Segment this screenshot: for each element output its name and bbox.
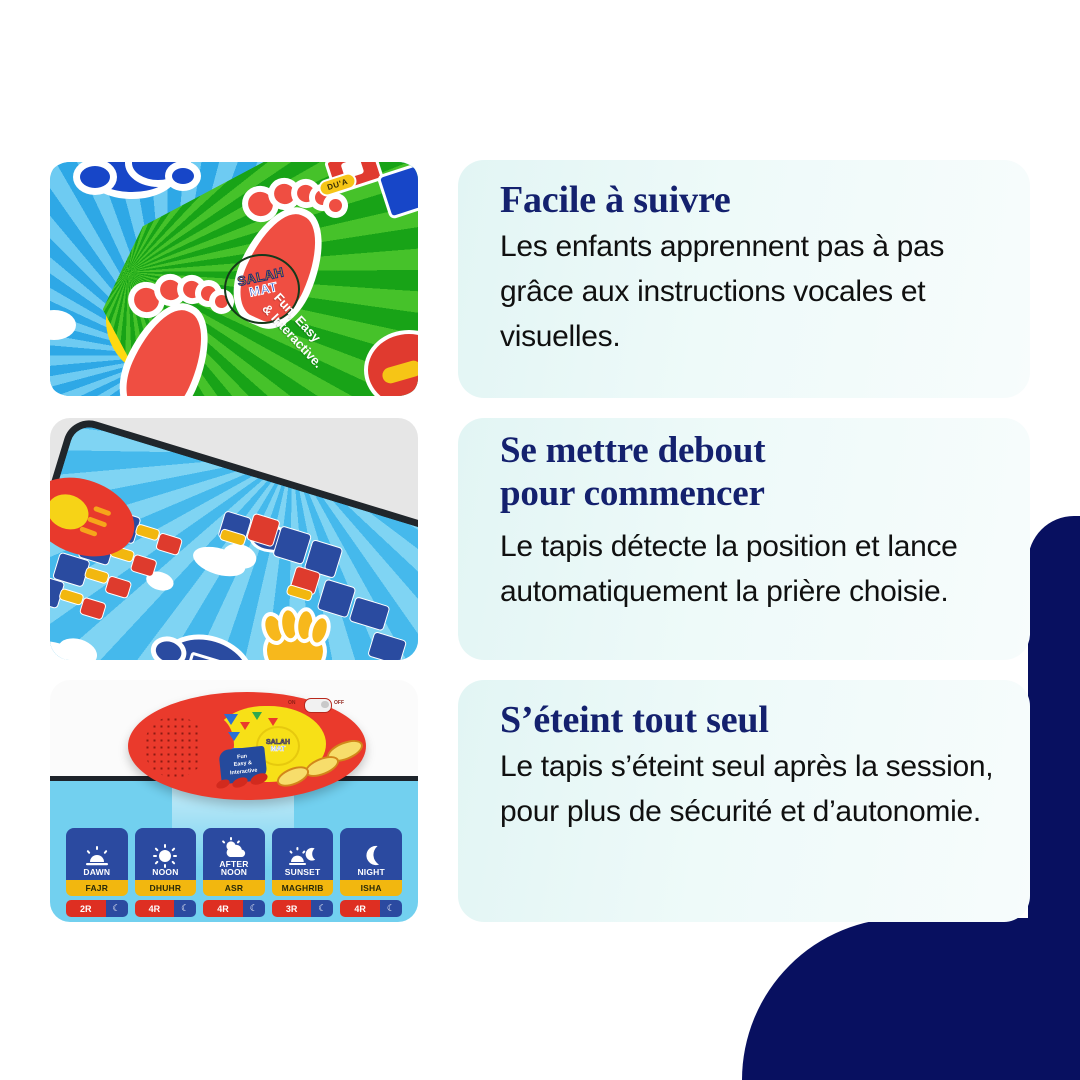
power-switch[interactable]: [304, 698, 332, 713]
product-photo-1: SALAH MAT Fun, Easy & Interactive. DU'A: [50, 160, 418, 398]
feature-card-2: Se mettre debout pour commencer Le tapis…: [458, 418, 1030, 660]
prayer-name-label: FAJR: [66, 880, 128, 896]
oval-slot: [215, 778, 231, 791]
prayer-button-maghrib[interactable]: SUNSET MAGHRIB 3R ☾: [272, 828, 334, 917]
feature-body-3: Le tapis s’éteint seul après la session,…: [500, 744, 996, 834]
blue-cloud-icon: [80, 166, 110, 188]
prayer-name-label: MAGHRIB: [272, 880, 334, 896]
feature-body-1: Les enfants apprennent pas à pas grâce a…: [500, 224, 996, 359]
moon-icon: ☾: [174, 900, 196, 917]
feature-body-2: Le tapis détecte la position et lance au…: [500, 524, 996, 614]
triangle-icon: [240, 722, 250, 730]
rakat-count: 3R: [272, 900, 312, 917]
rakat-count: 4R: [203, 900, 243, 917]
prayer-name-label: DHUHR: [135, 880, 197, 896]
feature-row-3: SALAH MAT Fun Easy & Interactive ON OFF: [50, 680, 1030, 922]
feature-row-1: SALAH MAT Fun, Easy & Interactive. DU'A …: [50, 160, 1030, 398]
triangle-icon: [252, 712, 262, 720]
product-photo-2: [50, 418, 418, 660]
prayer-name-label: ISHA: [340, 880, 402, 896]
feature-heading-3: S’éteint tout seul: [500, 698, 996, 742]
feature-heading-1: Facile à suivre: [500, 178, 996, 222]
prayer-time-label: NOON: [152, 868, 178, 877]
feature-rows: SALAH MAT Fun, Easy & Interactive. DU'A …: [0, 0, 1080, 1080]
prayer-button-fajr[interactable]: DAWN FAJR 2R ☾: [66, 828, 128, 917]
salah-mat-green-side: SALAH MAT Fun, Easy & Interactive. DU'A: [50, 162, 418, 396]
rakat-count: 2R: [66, 900, 106, 917]
prayer-time-label: DAWN: [83, 868, 110, 877]
prayer-name-label: ASR: [203, 880, 265, 896]
triangle-icon: [268, 718, 278, 726]
rakat-count: 4R: [340, 900, 380, 917]
page-canvas: SALAH MAT Fun, Easy & Interactive. DU'A …: [0, 0, 1080, 1080]
moon-icon: ☾: [243, 900, 265, 917]
feature-card-1: Facile à suivre Les enfants apprennent p…: [458, 160, 1030, 398]
product-photo-3: SALAH MAT Fun Easy & Interactive ON OFF: [50, 680, 418, 922]
rakat-count: 4R: [135, 900, 175, 917]
handprint-icon: [262, 625, 329, 660]
feature-row-2: Se mettre debout pour commencer Le tapis…: [50, 418, 1030, 660]
switch-on-label: ON: [288, 700, 296, 706]
moon-icon: ☾: [106, 900, 128, 917]
feature-card-3: S’éteint tout seul Le tapis s’éteint seu…: [458, 680, 1030, 922]
brand-logo-line-1: SALAH: [266, 739, 290, 746]
blue-cloud-icon: [172, 168, 194, 184]
sun-cloud-icon: [221, 836, 247, 860]
moon-icon: [360, 844, 382, 868]
sunrise-icon: [84, 844, 110, 868]
switch-off-label: OFF: [334, 700, 344, 706]
brand-logo-line-2: MAT: [271, 746, 286, 753]
sunset-moon-icon: [289, 844, 317, 868]
triangle-icon: [228, 732, 240, 741]
prayer-time-label: NIGHT: [357, 868, 384, 877]
triangle-icon: [224, 714, 238, 725]
moon-icon: ☾: [380, 900, 402, 917]
prayer-time-label: AFTER NOON: [219, 860, 248, 877]
sun-icon: [153, 844, 177, 868]
speaker-grille-icon: [144, 716, 206, 778]
prayer-time-label: SUNSET: [285, 868, 321, 877]
prayer-button-dhuhr[interactable]: NOON DHUHR 4R ☾: [135, 828, 197, 917]
prayer-button-row: DAWN FAJR 2R ☾: [66, 828, 402, 917]
prayer-button-asr[interactable]: AFTER NOON ASR 4R ☾: [203, 828, 265, 917]
speaker-control-unit[interactable]: SALAH MAT Fun Easy & Interactive ON OFF: [128, 692, 366, 800]
prayer-button-isha[interactable]: NIGHT ISHA 4R ☾: [340, 828, 402, 917]
feature-heading-2: Se mettre debout pour commencer: [500, 430, 996, 516]
moon-icon: ☾: [311, 900, 333, 917]
